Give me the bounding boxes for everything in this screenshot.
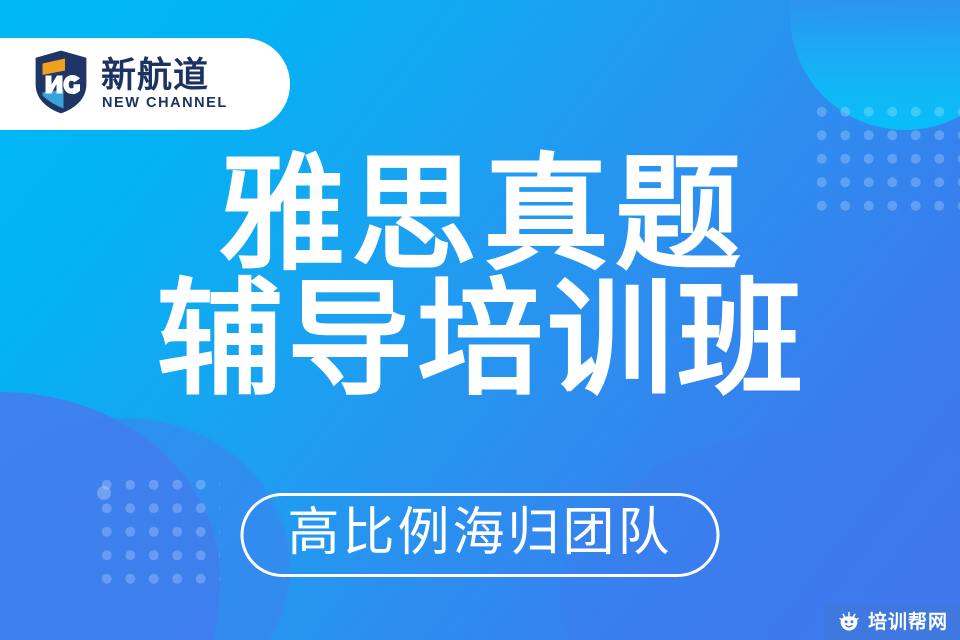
decorative-dot	[97, 486, 111, 500]
subtitle-pill: 高比例海归团队	[240, 493, 719, 577]
headline-block: 雅思真题 辅导培训班	[0, 152, 960, 408]
decorative-circle-top-right	[790, 0, 960, 130]
dot-grid-bottom-left	[95, 473, 220, 595]
headline-line-2: 辅导培训班	[0, 272, 960, 408]
nc-shield-logo-icon	[32, 48, 90, 121]
brand-name-en: NEW CHANNEL	[101, 96, 228, 111]
watermark-text: 培训帮网	[868, 613, 948, 632]
headline-line-1: 雅思真题	[0, 152, 960, 278]
subtitle-text: 高比例海归团队	[287, 506, 672, 560]
decorative-blob-bottom-left	[0, 392, 220, 640]
promotional-banner: 新航道 NEW CHANNEL 雅思真题 辅导培训班 高比例海归团队	[0, 0, 960, 640]
brand-name-cn: 新航道	[101, 59, 228, 95]
site-watermark: 培训帮网	[824, 604, 960, 640]
smiley-sun-face-icon	[838, 611, 860, 633]
brand-logo-badge: 新航道 NEW CHANNEL	[0, 38, 290, 130]
brand-wordmark: 新航道 NEW CHANNEL	[101, 57, 228, 110]
